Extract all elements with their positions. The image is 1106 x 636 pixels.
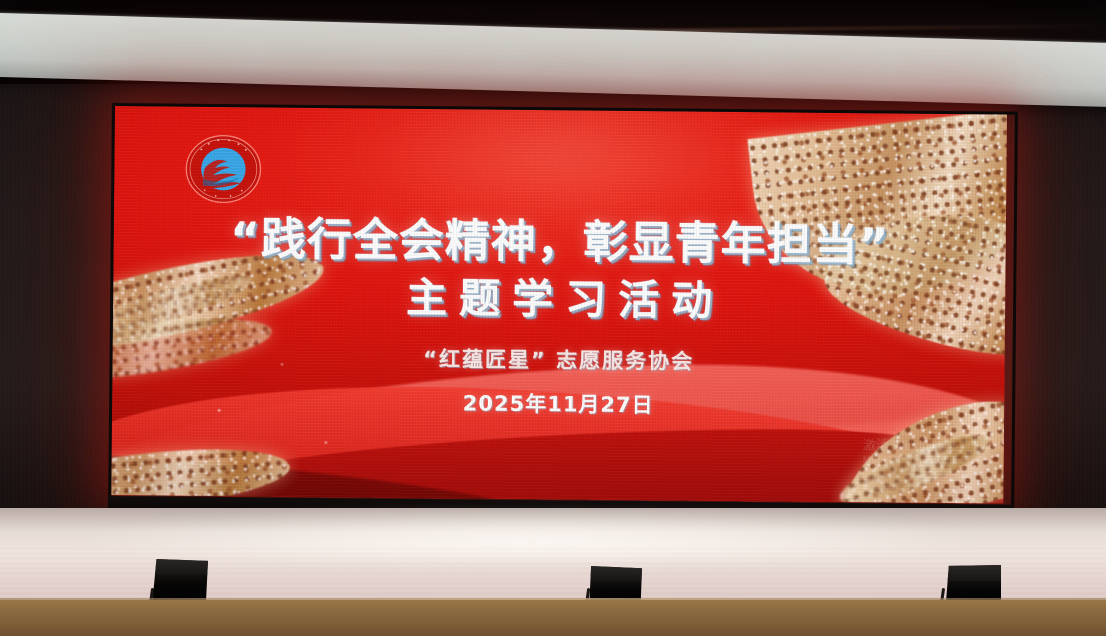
poster-title-sub: 主题学习活动 bbox=[113, 273, 1005, 327]
monitor-top-face bbox=[589, 566, 642, 581]
institution-emblem bbox=[176, 131, 271, 208]
monitor-top-face bbox=[943, 565, 1001, 581]
poster-title-main: “践行全会精神，彰显青年担当” bbox=[114, 214, 1006, 270]
stage-front-panel bbox=[0, 600, 1106, 636]
monitor-top-face bbox=[152, 559, 208, 575]
poster-organization: “红蕴匠星” 志愿服务协会 bbox=[112, 340, 1004, 379]
auditorium-scene: “践行全会精神，彰显青年担当” 主题学习活动 “红蕴匠星” 志愿服务协会 202… bbox=[0, 0, 1106, 636]
led-display-screen: “践行全会精神，彰显青年担当” 主题学习活动 “红蕴匠星” 志愿服务协会 202… bbox=[111, 106, 1007, 504]
poster-text-block: “践行全会精神，彰显青年担当” 主题学习活动 “红蕴匠星” 志愿服务协会 202… bbox=[112, 214, 1006, 422]
